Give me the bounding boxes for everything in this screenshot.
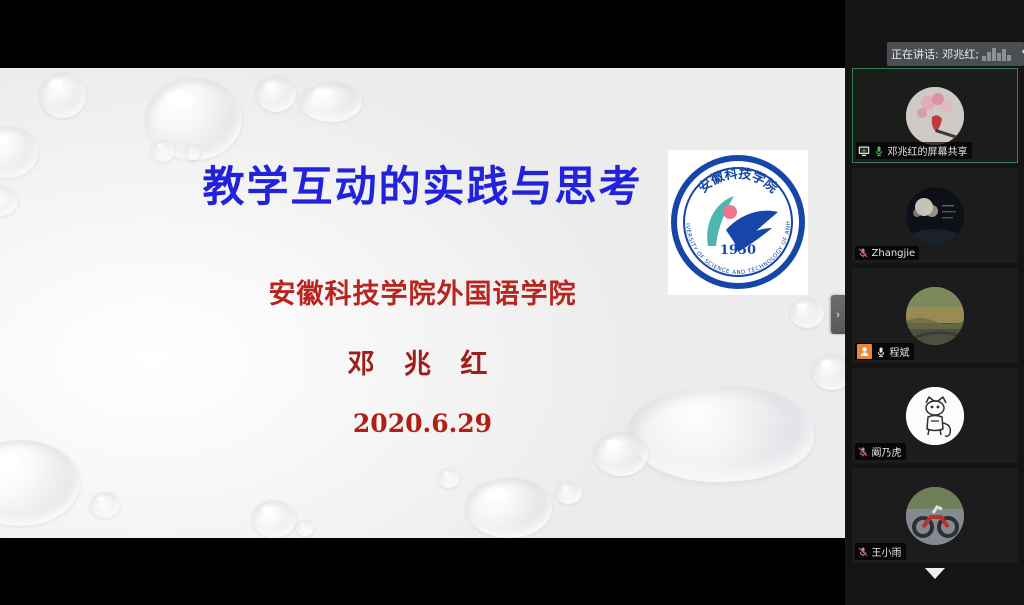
slide-date: 2020.6.29 xyxy=(0,409,845,438)
mic-muted-icon xyxy=(857,546,869,558)
decor-bubble xyxy=(556,482,582,504)
participant-label: 阚乃虎 xyxy=(855,443,906,460)
participant-label: 王小雨 xyxy=(855,543,906,560)
decor-bubble xyxy=(0,440,80,526)
chevron-right-icon: › xyxy=(836,309,840,321)
decor-bubble xyxy=(438,468,460,488)
slide-organization: 安徽科技学院外国语学院 xyxy=(0,272,845,311)
scroll-down-button[interactable] xyxy=(845,562,1024,584)
decor-bubble xyxy=(90,492,120,518)
participant-name: 程斌 xyxy=(890,344,910,359)
participant-tile-list[interactable]: 邓兆红的屏幕共享 xyxy=(845,68,1024,568)
decor-bubble xyxy=(256,76,296,112)
mic-muted-icon xyxy=(857,446,869,458)
mic-on-icon xyxy=(875,346,887,358)
avatar-landscape-photo xyxy=(906,287,964,345)
audio-wave-icon xyxy=(982,48,1011,61)
participant-name: 阚乃虎 xyxy=(872,444,902,459)
slide-title: 教学互动的实践与思考 xyxy=(0,153,845,214)
presentation-slide: 1950 安徽科技学院 UNIVERSITY OF SCIENCE AND TE… xyxy=(0,68,845,538)
mic-muted-icon xyxy=(857,247,869,259)
participant-tile[interactable]: 邓兆红的屏幕共享 xyxy=(852,68,1018,163)
avatar-flower-photo xyxy=(906,87,964,145)
decor-bubble xyxy=(300,82,362,122)
active-speaker-bar: 正在讲话: 邓兆红; ↰ xyxy=(887,42,1024,66)
participant-name: Zhangjie xyxy=(872,248,916,259)
host-badge-icon xyxy=(857,344,872,359)
mic-on-icon xyxy=(873,145,885,157)
decor-bubble xyxy=(296,520,314,536)
screen-share-icon xyxy=(858,145,870,157)
participant-name: 王小雨 xyxy=(872,544,902,559)
participant-tile[interactable]: 王小雨 xyxy=(852,468,1018,563)
return-arrow-icon[interactable]: ↰ xyxy=(1020,47,1024,61)
participant-name: 邓兆红的屏幕共享 xyxy=(888,143,968,158)
decor-bubble xyxy=(466,478,552,538)
participant-label: 程斌 xyxy=(855,343,914,360)
participant-tile[interactable]: 程斌 xyxy=(852,268,1018,363)
slide-presenter-name: 邓 兆 红 xyxy=(0,342,845,381)
shared-screen-stage: 1950 安徽科技学院 UNIVERSITY OF SCIENCE AND TE… xyxy=(0,0,845,605)
svg-text:1950: 1950 xyxy=(720,243,756,258)
meeting-app-window: 1950 安徽科技学院 UNIVERSITY OF SCIENCE AND TE… xyxy=(0,0,1024,605)
participant-tile[interactable]: 阚乃虎 xyxy=(852,368,1018,463)
participants-panel: 正在讲话: 邓兆红; ↰ xyxy=(845,0,1024,605)
avatar-cartoon-cat xyxy=(906,387,964,445)
avatar-motorcycle-photo xyxy=(906,487,964,545)
decor-bubble xyxy=(40,72,86,118)
active-speaker-label: 正在讲话: 邓兆红; xyxy=(891,46,979,62)
participant-tile[interactable]: Zhangjie xyxy=(852,168,1018,263)
panel-collapse-handle[interactable]: › xyxy=(831,295,845,334)
chevron-down-icon xyxy=(925,568,945,579)
participant-label: 邓兆红的屏幕共享 xyxy=(856,142,972,159)
decor-bubble xyxy=(594,432,648,476)
avatar-night-sky-photo xyxy=(906,187,964,245)
participant-label: Zhangjie xyxy=(855,246,920,260)
decor-bubble xyxy=(252,500,296,538)
